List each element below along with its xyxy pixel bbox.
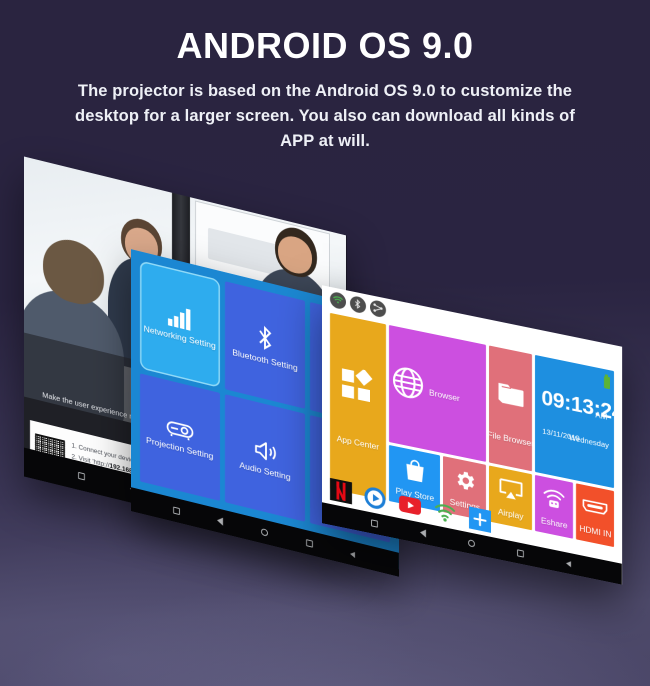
youtube-icon[interactable] (399, 492, 421, 519)
settings-tile-networking[interactable]: Networking Setting (140, 261, 220, 388)
recents-icon[interactable] (517, 549, 524, 557)
shopping-bag-icon (404, 457, 425, 484)
tile-browser[interactable]: Browser (389, 325, 486, 461)
battery-icon (604, 376, 610, 389)
page-subtitle: The projector is based on the Android OS… (0, 79, 650, 154)
screenshot-icon[interactable] (173, 506, 180, 515)
tile-label: App Center (337, 434, 379, 452)
tile-label: File Browser (489, 430, 532, 449)
settings-tile-audio[interactable]: Audio Setting (225, 394, 305, 521)
settings-tile-label: Audio Setting (239, 459, 290, 482)
bluetooth-icon (255, 323, 275, 354)
projector-icon (166, 417, 194, 442)
eshare-cast-icon (542, 485, 567, 512)
back-icon[interactable] (217, 517, 223, 526)
globe-icon (392, 363, 424, 402)
volume-icon[interactable] (350, 550, 357, 559)
back-icon[interactable] (420, 529, 426, 538)
bluetooth-icon[interactable] (350, 294, 366, 313)
gear-icon (453, 467, 476, 495)
recents-icon[interactable] (306, 539, 313, 548)
page-title: ANDROID OS 9.0 (0, 28, 650, 64)
wifi-icon[interactable] (330, 290, 346, 309)
settings-tile-bluetooth[interactable]: Bluetooth Setting (225, 282, 305, 409)
speaker-icon (253, 437, 277, 465)
add-icon[interactable] (469, 507, 491, 534)
settings-tile-projection[interactable]: Projection Setting (140, 373, 220, 500)
airplay-icon (498, 476, 523, 503)
netflix-icon[interactable] (330, 478, 352, 505)
mediaplayer-icon[interactable] (364, 485, 386, 512)
tile-file-browser[interactable]: File Browser (489, 346, 532, 471)
volume-icon[interactable] (566, 559, 573, 567)
signal-bars-icon (167, 303, 193, 331)
home-icon[interactable] (468, 539, 475, 547)
tile-clock[interactable]: 09:13:24 AM 13/11/2019 Wednesday (535, 355, 614, 488)
home-icon[interactable] (261, 528, 268, 537)
share-icon[interactable] (370, 299, 386, 318)
header: ANDROID OS 9.0 The projector is based on… (0, 0, 650, 154)
folder-icon (497, 379, 524, 410)
screenshot-icon[interactable] (371, 519, 378, 527)
hdmi-port-icon (582, 497, 609, 519)
screenshot-icon[interactable] (78, 472, 85, 481)
wifi-cast-icon[interactable] (434, 500, 456, 527)
clock-weekday: Wednesday (569, 433, 609, 450)
app-center-icon (341, 365, 375, 406)
tile-label: Browser (429, 388, 460, 404)
